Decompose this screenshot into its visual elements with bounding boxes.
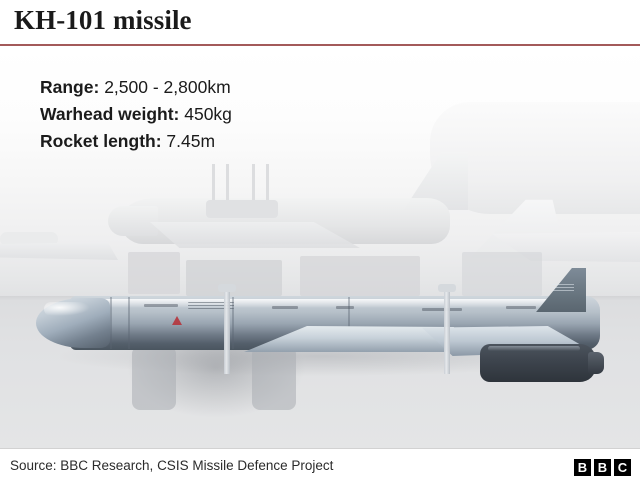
missile-panel-seam	[110, 297, 112, 349]
missile-stencil-marking	[272, 306, 298, 309]
spec-warhead-weight-label: Warhead weight:	[40, 104, 179, 124]
kh-101-missile-illustration	[36, 282, 620, 398]
spec-range-label: Range:	[40, 77, 99, 97]
footer: Source: BBC Research, CSIS Missile Defen…	[0, 448, 640, 484]
missile-stencil-marking	[422, 308, 462, 311]
spec-rocket-length-value: 7.45m	[166, 131, 215, 151]
missile-suspension-lug	[438, 284, 456, 292]
missile-fin-stencil	[552, 284, 574, 292]
bbc-logo-letter-3: C	[614, 459, 631, 476]
bbc-logo-letter-1: B	[574, 459, 591, 476]
missile-engine-nozzle	[588, 352, 604, 374]
illustration-stage: Range: 2,500 - 2,800km Warhead weight: 4…	[0, 46, 640, 448]
background-engine-nacelle	[206, 200, 278, 218]
missile-panel-seam	[128, 297, 130, 349]
header: KH-101 missile	[0, 0, 640, 46]
infographic: KH-101 missile	[0, 0, 640, 484]
missile-stencil-marking	[336, 306, 354, 309]
missile-suspension-strap	[444, 290, 450, 374]
page-title: KH-101 missile	[14, 5, 192, 36]
source-attribution: Source: BBC Research, CSIS Missile Defen…	[10, 458, 333, 473]
background-bomber-nose	[108, 206, 158, 236]
missile-nose-highlight	[44, 302, 90, 316]
missile-suspension-lug	[218, 284, 236, 292]
warning-triangle-icon	[172, 316, 182, 325]
spec-rocket-length-label: Rocket length:	[40, 131, 162, 151]
background-aircraft-left-wing	[0, 242, 118, 260]
spec-range: Range: 2,500 - 2,800km	[40, 74, 460, 101]
bbc-logo-letter-2: B	[594, 459, 611, 476]
spec-rocket-length: Rocket length: 7.45m	[40, 128, 460, 155]
missile-stencil-marking	[144, 304, 178, 307]
spec-list: Range: 2,500 - 2,800km Warhead weight: 4…	[40, 74, 460, 155]
bbc-logo: B B C	[574, 459, 631, 476]
missile-engine-highlight	[488, 346, 580, 351]
spec-warhead-weight: Warhead weight: 450kg	[40, 101, 460, 128]
spec-warhead-weight-value: 450kg	[184, 104, 232, 124]
missile-suspension-strap	[224, 290, 230, 374]
spec-range-value: 2,500 - 2,800km	[104, 77, 230, 97]
missile-stencil-marking	[506, 306, 536, 309]
